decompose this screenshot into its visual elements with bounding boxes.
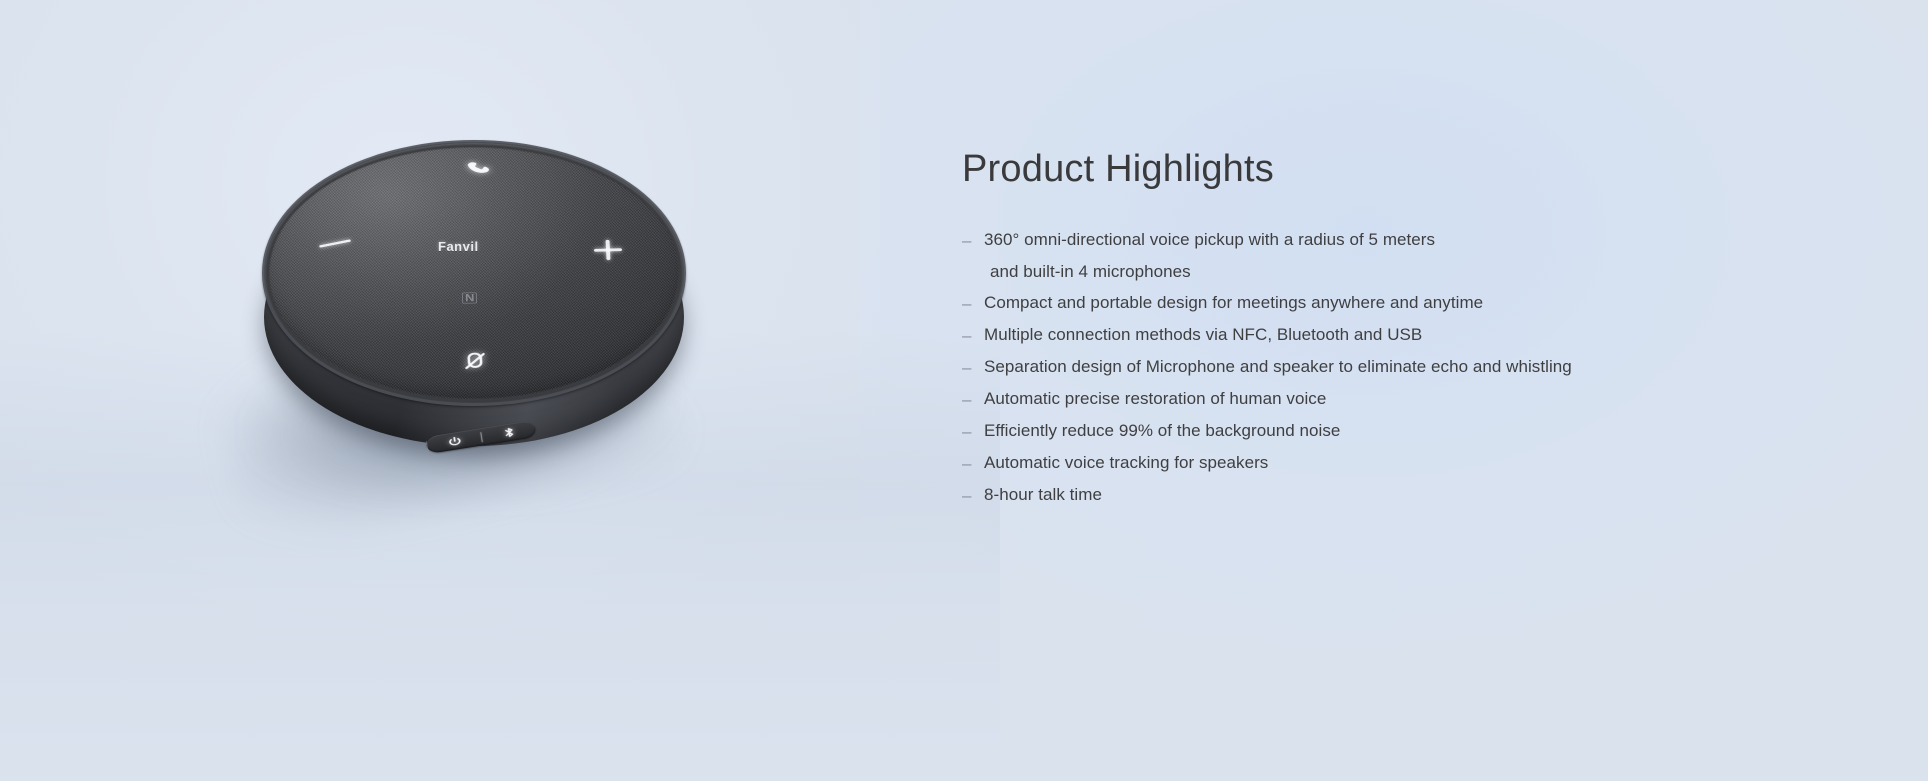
highlight-dash: –	[962, 419, 984, 444]
highlight-item: –360° omni-directional voice pickup with…	[962, 228, 1722, 253]
highlight-dash: –	[962, 291, 984, 316]
highlight-dash: –	[962, 483, 984, 508]
highlight-dash-spacer	[962, 260, 984, 261]
highlight-text: Compact and portable design for meetings…	[984, 291, 1483, 315]
speakerphone-device: Fanvil N	[264, 142, 684, 472]
device-top-surface	[264, 142, 684, 404]
bluetooth-icon	[501, 426, 515, 438]
highlight-text: 360° omni-directional voice pickup with …	[984, 228, 1435, 252]
highlight-item: –8-hour talk time	[962, 483, 1722, 508]
highlight-dash: –	[962, 323, 984, 348]
highlight-text: and built-in 4 microphones	[984, 260, 1191, 284]
highlights-list: –360° omni-directional voice pickup with…	[962, 228, 1722, 508]
highlight-text: Automatic voice tracking for speakers	[984, 451, 1268, 475]
fabric-shading	[269, 147, 679, 399]
highlight-item: and built-in 4 microphones	[962, 260, 1722, 284]
highlight-item: –Automatic precise restoration of human …	[962, 387, 1722, 412]
page-title: Product Highlights	[962, 150, 1722, 188]
highlight-dash: –	[962, 387, 984, 412]
highlight-dash: –	[962, 228, 984, 253]
highlight-item: –Efficiently reduce 99% of the backgroun…	[962, 419, 1722, 444]
product-highlights-panel: Product Highlights –360° omni-directiona…	[962, 150, 1722, 515]
product-image: Fanvil N	[250, 120, 770, 520]
highlight-dash: –	[962, 355, 984, 380]
highlight-item: –Automatic voice tracking for speakers	[962, 451, 1722, 476]
highlight-text: 8-hour talk time	[984, 483, 1102, 507]
highlight-text: Multiple connection methods via NFC, Blu…	[984, 323, 1422, 347]
highlight-dash: –	[962, 451, 984, 476]
highlight-text: Automatic precise restoration of human v…	[984, 387, 1326, 411]
highlight-item: –Separation design of Microphone and spe…	[962, 355, 1722, 380]
highlight-item: –Multiple connection methods via NFC, Bl…	[962, 323, 1722, 348]
highlight-item: –Compact and portable design for meeting…	[962, 291, 1722, 316]
highlight-text: Efficiently reduce 99% of the background…	[984, 419, 1340, 443]
highlight-text: Separation design of Microphone and spea…	[984, 355, 1572, 379]
power-icon	[446, 435, 462, 447]
